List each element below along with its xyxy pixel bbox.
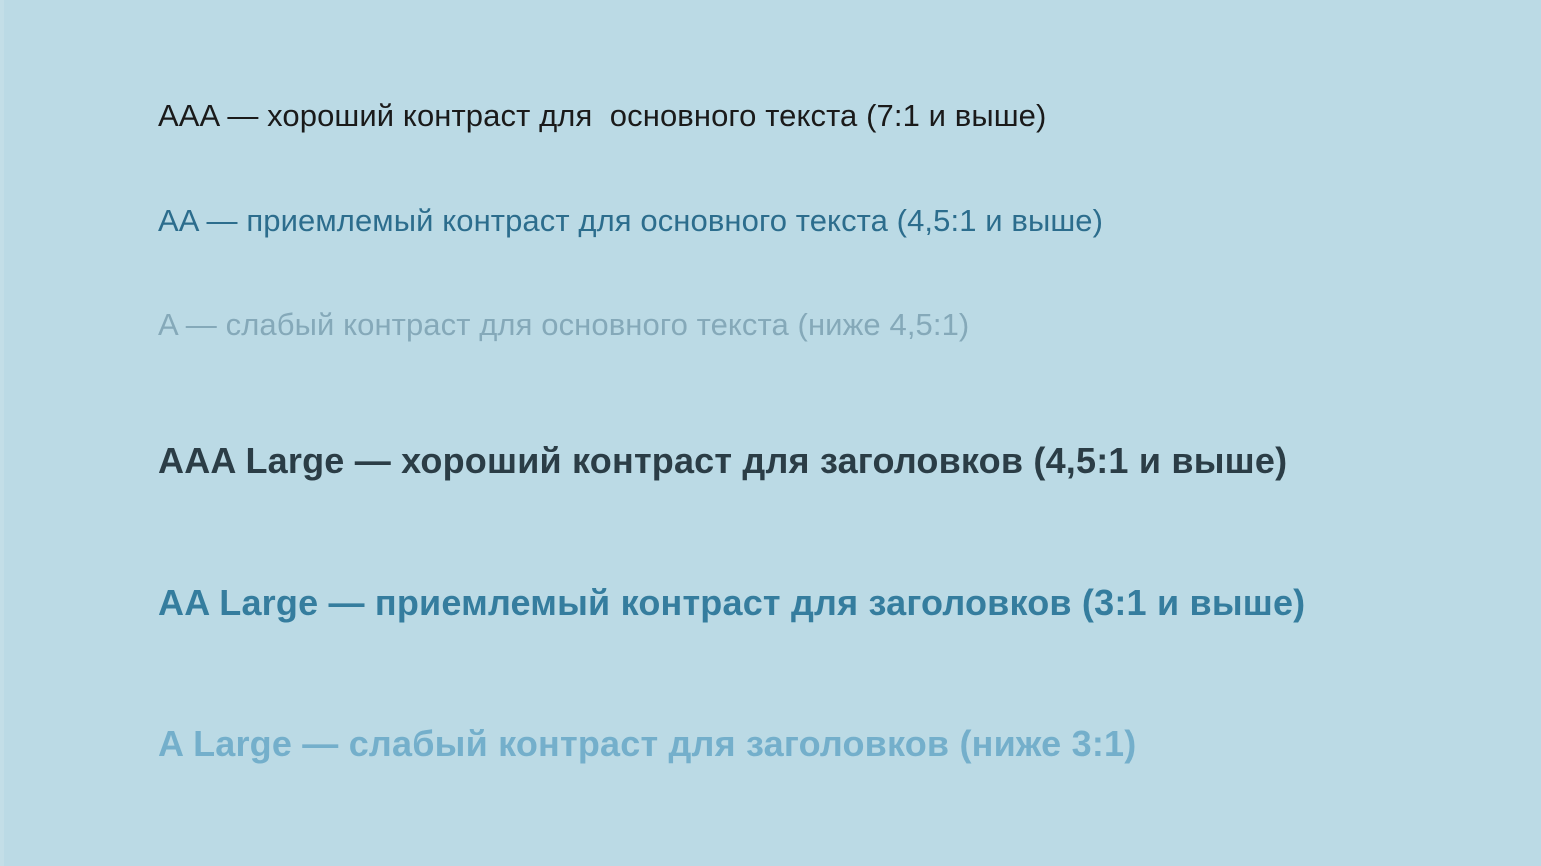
contrast-sample-aaa: AAA — хороший контраст для основного тек… bbox=[158, 100, 1046, 131]
left-edge-strip bbox=[0, 0, 4, 866]
contrast-sample-aaa-large: AAA Large — хороший контраст для заголов… bbox=[158, 443, 1287, 479]
contrast-sample-a: A — слабый контраст для основного текста… bbox=[158, 309, 969, 340]
contrast-sample-a-large: A Large — слабый контраст для заголовков… bbox=[158, 726, 1136, 762]
contrast-sample-aa-large: AA Large — приемлемый контраст для загол… bbox=[158, 585, 1305, 621]
contrast-sample-aa: AA — приемлемый контраст для основного т… bbox=[158, 205, 1103, 236]
contrast-sample-canvas: AAA — хороший контраст для основного тек… bbox=[0, 0, 1541, 866]
